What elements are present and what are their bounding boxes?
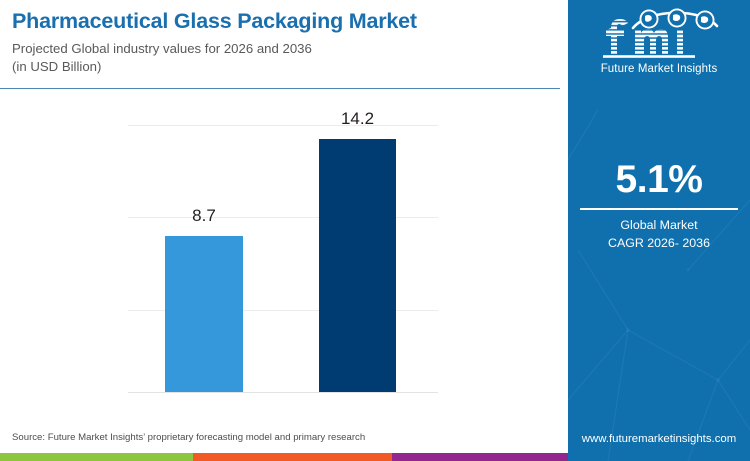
source-note: Source: Future Market Insights’ propriet… — [12, 432, 365, 443]
bottom-color-strip — [0, 453, 568, 461]
chart-subtitle: Projected Global industry values for 202… — [12, 40, 532, 76]
cagr-value: 5.1% — [568, 158, 750, 202]
chart-panel: Pharmaceutical Glass Packaging Market Pr… — [0, 0, 568, 448]
website-url: www.futuremarketinsights.com — [568, 433, 750, 445]
fmi-logo-mark — [589, 6, 729, 62]
brand-panel: Future Market Insights 5.1% Global Marke… — [568, 0, 750, 461]
cagr-caption: Global Market CAGR 2026- 2036 — [568, 216, 750, 252]
strip-segment-orange — [193, 453, 392, 461]
cagr-divider — [580, 208, 738, 210]
strip-segment-purple — [392, 453, 568, 461]
bar-value-2036: 14.2 — [319, 109, 396, 129]
globe-icon-group — [640, 9, 715, 30]
infographic-root: Pharmaceutical Glass Packaging Market Pr… — [0, 0, 750, 461]
bar-chart-plot: 8.7 14.2 2026 2036 — [0, 95, 568, 395]
bar-2036 — [319, 139, 396, 392]
strip-segment-green — [0, 453, 193, 461]
logo-tagline: Future Market Insights — [568, 63, 750, 75]
fmi-logo: Future Market Insights — [568, 6, 750, 75]
bar-value-2026: 8.7 — [165, 206, 243, 226]
bar-2026 — [165, 236, 243, 392]
page-title: Pharmaceutical Glass Packaging Market — [12, 8, 552, 34]
header-divider — [0, 88, 560, 89]
axis-baseline — [128, 392, 438, 393]
